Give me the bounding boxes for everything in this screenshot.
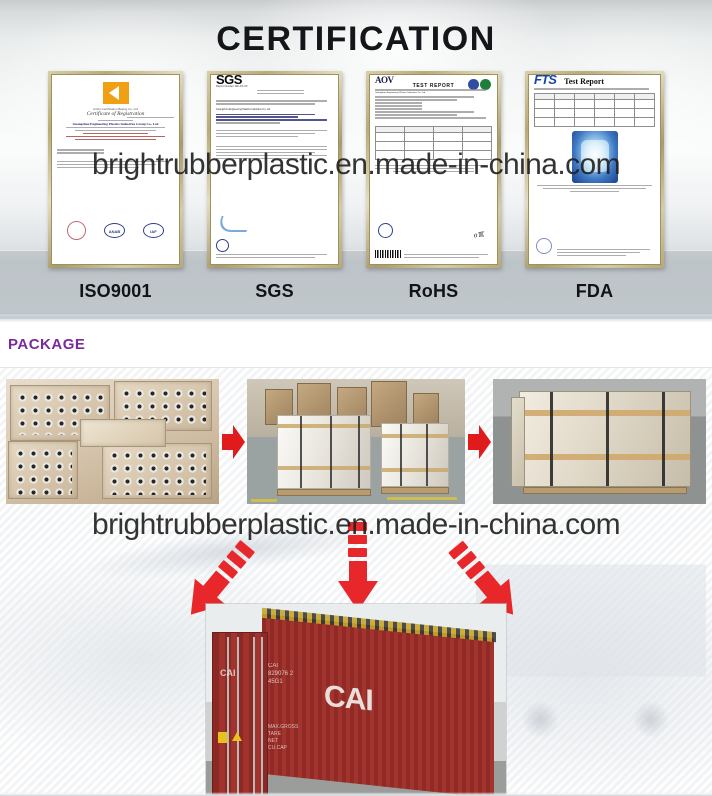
- certificate-frame-fda[interactable]: FTS Test Report: [525, 71, 664, 268]
- certificate-frame-sgs[interactable]: SGS Report Number: MF-XX-XX Guangzhou En…: [207, 71, 342, 268]
- package-photo-cartons-of-rubber-rings[interactable]: [6, 379, 219, 504]
- container-side-brand: CAI: [220, 668, 236, 678]
- certificate-document-sgs: SGS Report Number: MF-XX-XX Guangzhou En…: [210, 74, 339, 265]
- fda-results-table: [534, 93, 655, 127]
- package-flow-photos: [6, 379, 706, 504]
- cert-label-sgs: SGS: [207, 281, 342, 302]
- iso-k-logo-icon: [103, 82, 129, 104]
- sgs-company-name: Guangzhou Engineering Plastics Industrie…: [216, 109, 333, 112]
- section-divider: [0, 313, 712, 322]
- sample-photo: [572, 131, 618, 183]
- fts-logo-icon: FTS: [534, 79, 556, 82]
- certification-section: CERTIFICATION Anhui Certification Beijin…: [0, 0, 712, 313]
- sgs-signature-icon: [216, 216, 251, 232]
- package-photo-shipping-container[interactable]: CAI CAI 829076 2 45G1 MAX.GROSS TARE NET…: [206, 604, 506, 796]
- rohs-company-name: Guangzhou Engineering Plastics Industrie…: [375, 92, 492, 95]
- cert-label-fda: FDA: [525, 281, 664, 302]
- flow-arrow-icon-2: [468, 425, 490, 459]
- iso-doc-heading: Certificate of Registration: [57, 113, 174, 116]
- container-brand-logo: CAI: [324, 679, 373, 718]
- sgs-report-number: Report Number: MF-XX-XX: [216, 86, 333, 89]
- package-photo-wooden-export-crate[interactable]: [493, 379, 706, 504]
- seal-stamp-icon: [67, 221, 86, 240]
- page-bottom-edge: [0, 792, 712, 796]
- iaf-seal-icon: IAF: [143, 223, 164, 238]
- container-code: CAI 829076 2 45G1: [268, 662, 293, 686]
- certificate-document-fda: FTS Test Report: [528, 74, 661, 265]
- signature-icon: ℴℼ: [472, 233, 483, 237]
- cert-label-rohs: RoHS: [366, 281, 501, 302]
- anab-seal-icon: ANAB: [104, 223, 125, 238]
- iso-company-name: Guangzhou Engineering Plastics Industrie…: [57, 123, 174, 126]
- barcode-icon: [375, 250, 401, 258]
- package-section: CAI CAI 829076 2 45G1 MAX.GROSS TARE NET…: [0, 367, 712, 796]
- accreditation-seal-icon: [536, 238, 552, 254]
- product-detail-page: CERTIFICATION Anhui Certification Beijin…: [0, 0, 712, 796]
- container-weight-plate: MAX.GROSS TARE NET CU.CAP: [268, 724, 298, 752]
- certificate-frames-row: Anhui Certification Beijing Co.,Ltd Cert…: [48, 71, 664, 268]
- cert-label-iso9001: ISO9001: [48, 281, 183, 302]
- package-section-heading: PACKAGE: [8, 336, 85, 353]
- certification-title: CERTIFICATION: [0, 20, 712, 59]
- flow-arrow-icon-1: [222, 425, 244, 459]
- certificate-frame-rohs[interactable]: AOV TEST REPORT Guangzhou Engineering Pl…: [366, 71, 501, 268]
- warning-triangle-icon: [232, 732, 242, 741]
- container-doors: [212, 632, 268, 796]
- iso-seals-row: ANAB IAF: [58, 221, 173, 240]
- package-photo-palletized-white-packs[interactable]: [247, 379, 465, 504]
- fda-doc-heading: Test Report: [564, 81, 604, 84]
- container-placard-icon: [218, 732, 227, 743]
- cnas-seal-icon: [216, 239, 229, 252]
- certificate-labels-row: ISO9001 SGS RoHS FDA: [48, 281, 664, 302]
- container-body: [262, 614, 494, 796]
- cnas-seal-icon: [378, 223, 393, 238]
- certificate-document-iso9001: Anhui Certification Beijing Co.,Ltd Cert…: [51, 74, 180, 265]
- certificate-frame-iso9001[interactable]: Anhui Certification Beijing Co.,Ltd Cert…: [48, 71, 183, 268]
- rohs-results-table: [375, 126, 492, 160]
- certificate-document-rohs: AOV TEST REPORT Guangzhou Engineering Pl…: [369, 74, 498, 265]
